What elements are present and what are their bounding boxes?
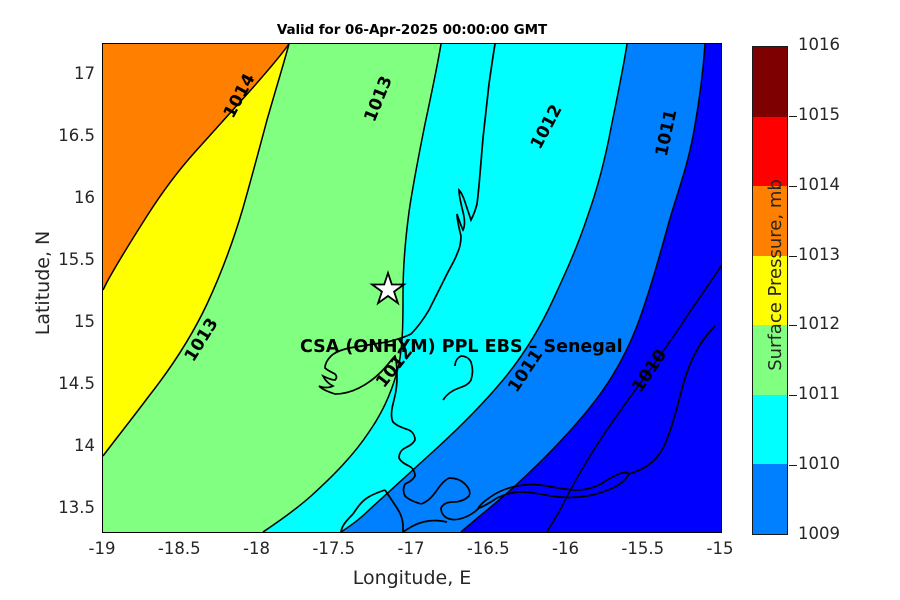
colorbar-tick-label: 1014 [798, 175, 840, 194]
x-tick-label: -17.5 [299, 539, 369, 558]
filled-contour-bands [103, 44, 721, 532]
x-tick-label: -19 [67, 539, 137, 558]
colorbar-tick-label: 1013 [798, 245, 840, 264]
figure-title: Valid for 06-Apr-2025 00:00:00 GMT [102, 22, 722, 38]
x-axis-label: Longitude, E [102, 567, 722, 589]
x-tick-label: -15.5 [608, 539, 678, 558]
x-tick-label: -18 [222, 539, 292, 558]
colorbar-band [753, 47, 787, 117]
colorbar-tick-label: 1016 [798, 35, 840, 54]
contour-map-svg [103, 44, 721, 532]
colorbar-tick-mark [789, 186, 797, 187]
station-label: CSA (ONHYM) PPL EBS – Senegal [300, 337, 623, 357]
y-axis-label: Latitude, N [32, 158, 54, 408]
colorbar-tick-label: 1010 [798, 454, 840, 473]
colorbar-tick-label: 1012 [798, 314, 840, 333]
colorbar-tick-mark [789, 465, 797, 466]
colorbar-tick-mark [789, 256, 797, 257]
map-plot-area[interactable]: 10141013101210111013101210111010 CSA (ON… [102, 43, 722, 533]
x-tick-label: -18.5 [144, 539, 214, 558]
colorbar-tick-label: 1011 [798, 384, 840, 403]
colorbar-tick-mark [789, 325, 797, 326]
y-tick-label: 14 [33, 436, 95, 455]
y-tick-label: 17 [33, 64, 95, 83]
colorbar-tick-mark [789, 395, 797, 396]
colorbar-tick-label: 1009 [798, 524, 840, 543]
colorbar-band [753, 464, 787, 534]
x-tick-label: -17 [376, 539, 446, 558]
x-tick-label: -16 [531, 539, 601, 558]
x-tick-label: -15 [685, 539, 755, 558]
y-tick-label: 13.5 [33, 498, 95, 517]
figure-root: Valid for 06-Apr-2025 00:00:00 GMT [0, 0, 900, 600]
x-tick-label: -16.5 [453, 539, 523, 558]
colorbar-tick-mark [789, 116, 797, 117]
colorbar-label: Surface Pressure, mb [765, 150, 786, 400]
y-tick-label: 16.5 [33, 126, 95, 145]
colorbar-band [753, 395, 787, 465]
colorbar-tick-label: 1015 [798, 105, 840, 124]
